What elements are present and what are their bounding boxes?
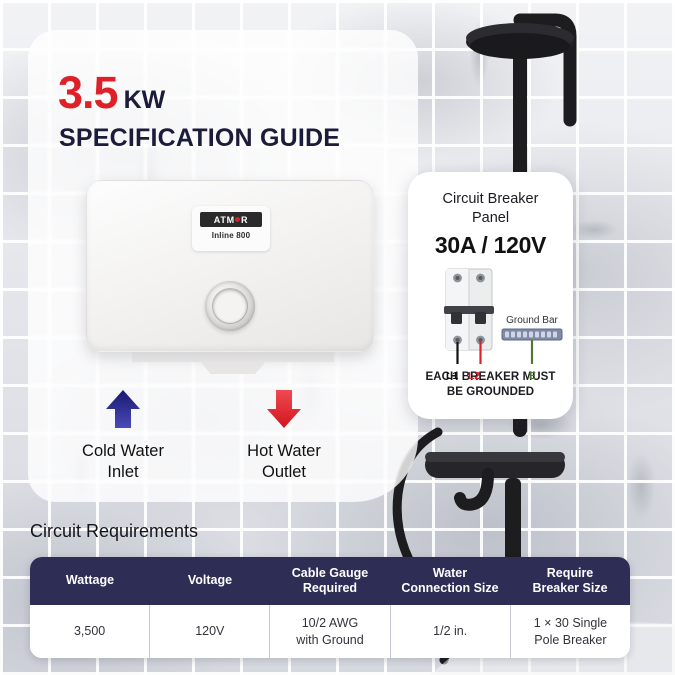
table-cell: 3,500 (30, 605, 150, 658)
table-header-cell: WaterConnection Size (390, 557, 510, 605)
temperature-dial[interactable] (205, 281, 255, 331)
ground-bar-label: Ground Bar (492, 315, 572, 326)
table-cell: 120V (150, 605, 270, 658)
double-pole-breaker (444, 269, 494, 364)
brand-dot-icon (235, 217, 240, 222)
cold-water-label-line2: Inlet (68, 462, 178, 483)
section-title: Circuit Requirements (30, 521, 198, 542)
arrow-down-icon (265, 388, 303, 430)
cold-water-label-line1: Cold Water (68, 441, 178, 462)
breaker-diagram (408, 172, 573, 419)
circuit-requirements-table: Wattage Voltage Cable GaugeRequired Wate… (30, 557, 630, 658)
heater-body: ATMR Inline 800 (86, 180, 374, 352)
terminal-label-l2: L2 (468, 370, 480, 382)
table-cell: 1 × 30 SinglePole Breaker (511, 605, 630, 658)
page-title: SPECIFICATION GUIDE (59, 124, 340, 153)
table-header-cell: Cable GaugeRequired (270, 557, 390, 605)
screenshot-root: 3.5 KW SPECIFICATION GUIDE ATMR Inline 8… (0, 0, 675, 675)
hot-water-outlet-callout: Hot Water Outlet (265, 388, 339, 482)
kw-unit: KW (124, 86, 166, 115)
specification-panel: 3.5 KW SPECIFICATION GUIDE ATMR Inline 8… (28, 30, 418, 502)
brand-name-start: ATM (214, 215, 235, 225)
terminal-label-e: E (529, 370, 536, 382)
arrow-up-icon (104, 388, 142, 430)
table-cell: 10/2 AWGwith Ground (270, 605, 390, 658)
table-header-row: Wattage Voltage Cable GaugeRequired Wate… (30, 557, 630, 605)
kw-value: 3.5 (58, 70, 118, 115)
terminal-label-l1: L1 (446, 370, 458, 382)
table-header-cell: RequireBreaker Size (510, 557, 630, 605)
table-header-cell: Wattage (30, 557, 150, 605)
table-row: 3,500 120V 10/2 AWGwith Ground 1/2 in. 1… (30, 605, 630, 658)
brand-name-end: R (241, 215, 248, 225)
table-header-cell: Voltage (150, 557, 270, 605)
brand-logo: ATMR (200, 212, 262, 227)
hot-water-label-line1: Hot Water (229, 441, 339, 462)
ground-bar (502, 329, 562, 364)
kw-heading: 3.5 KW (58, 70, 165, 115)
table-cell: 1/2 in. (391, 605, 511, 658)
model-name: Inline 800 (192, 231, 270, 240)
water-heater-image: ATMR Inline 800 (86, 180, 386, 376)
cold-water-inlet-callout: Cold Water Inlet (104, 388, 178, 482)
brand-badge: ATMR Inline 800 (192, 206, 270, 251)
hot-water-label-line2: Outlet (229, 462, 339, 483)
